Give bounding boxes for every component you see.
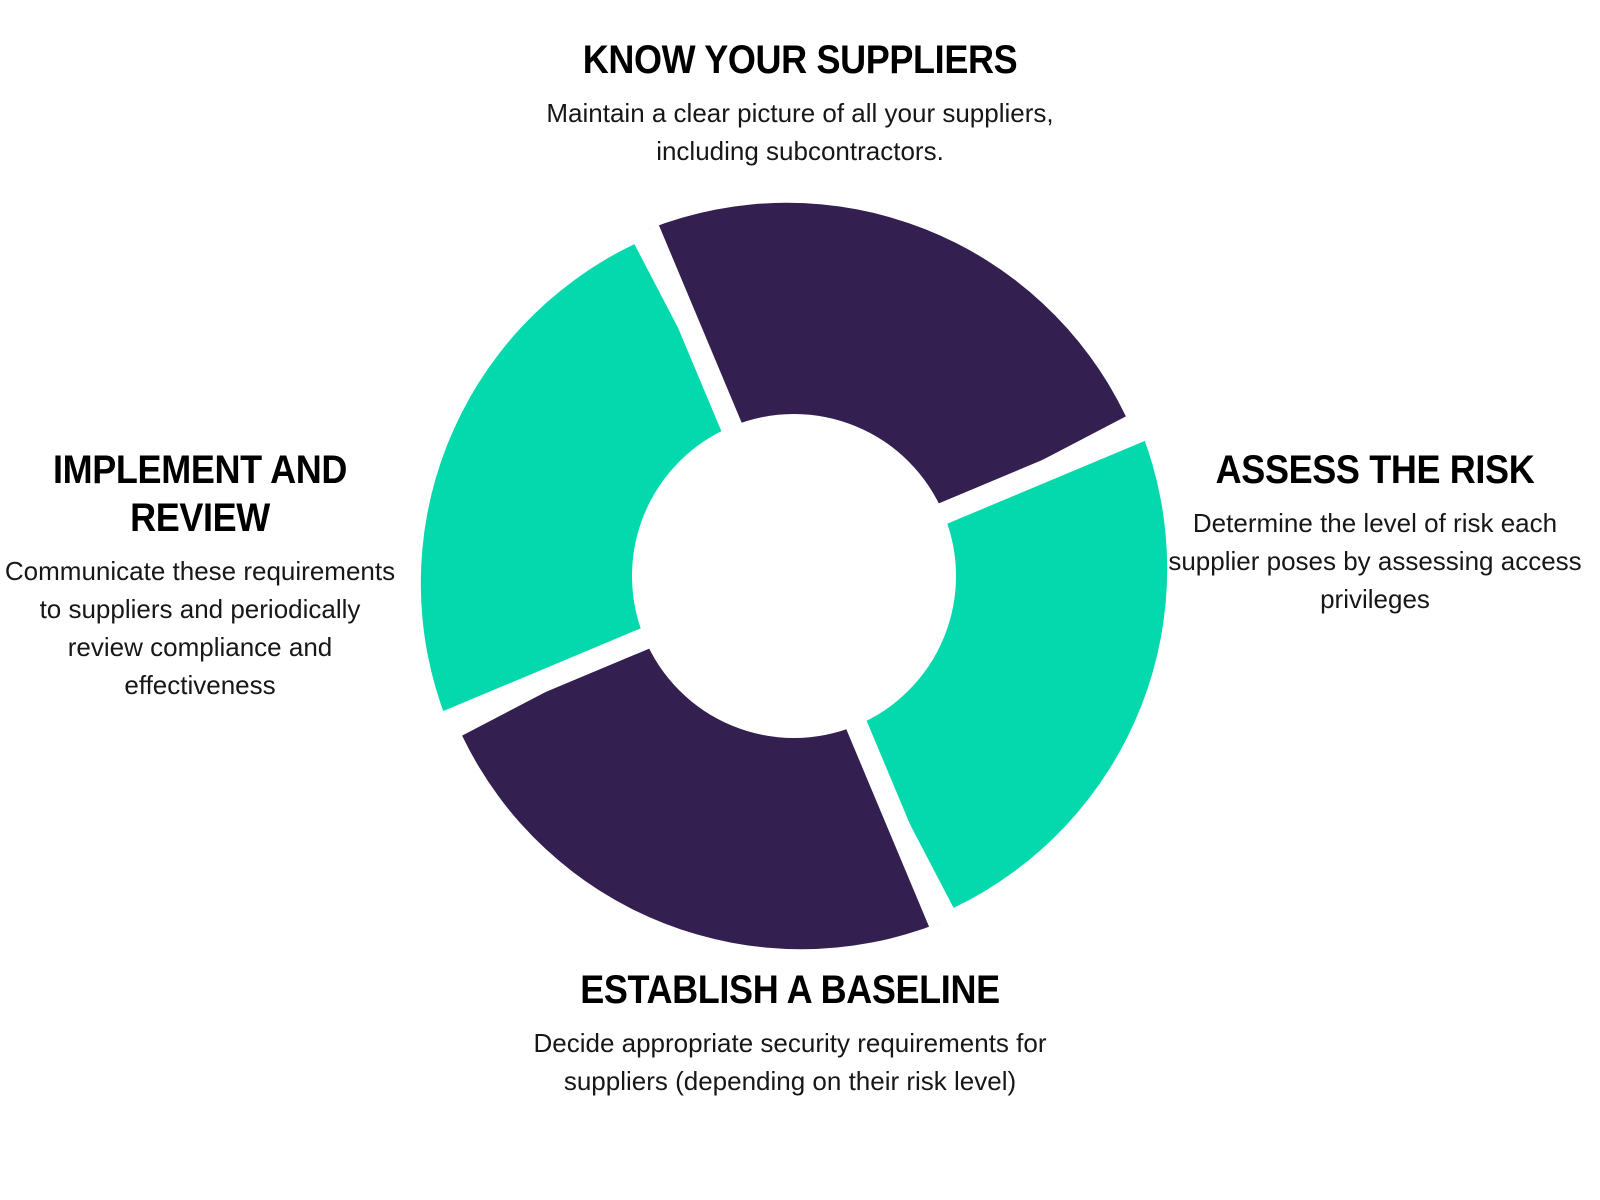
step-description-implement-and-review: Communicate these requirements to suppli… bbox=[0, 552, 400, 704]
diagram-canvas: KNOW YOUR SUPPLIERS Maintain a clear pic… bbox=[0, 0, 1600, 1200]
step-title-implement-and-review: IMPLEMENT AND REVIEW bbox=[20, 446, 380, 542]
donut-svg bbox=[418, 200, 1170, 952]
step-title-know-your-suppliers: KNOW YOUR SUPPLIERS bbox=[350, 36, 1250, 84]
callout-establish-a-baseline: ESTABLISH A BASELINE Decide appropriate … bbox=[290, 966, 1290, 1100]
step-description-assess-the-risk: Determine the level of risk each supplie… bbox=[1150, 504, 1600, 618]
callout-implement-and-review: IMPLEMENT AND REVIEW Communicate these r… bbox=[0, 446, 400, 704]
step-title-assess-the-risk: ASSESS THE RISK bbox=[1173, 446, 1578, 494]
step-title-establish-a-baseline: ESTABLISH A BASELINE bbox=[340, 966, 1240, 1014]
donut-center-hole bbox=[632, 414, 956, 738]
callout-assess-the-risk: ASSESS THE RISK Determine the level of r… bbox=[1150, 446, 1600, 618]
step-description-establish-a-baseline: Decide appropriate security requirements… bbox=[290, 1024, 1290, 1100]
callout-know-your-suppliers: KNOW YOUR SUPPLIERS Maintain a clear pic… bbox=[300, 36, 1300, 170]
cycle-donut-chart bbox=[418, 200, 1170, 952]
step-description-know-your-suppliers: Maintain a clear picture of all your sup… bbox=[300, 94, 1300, 170]
